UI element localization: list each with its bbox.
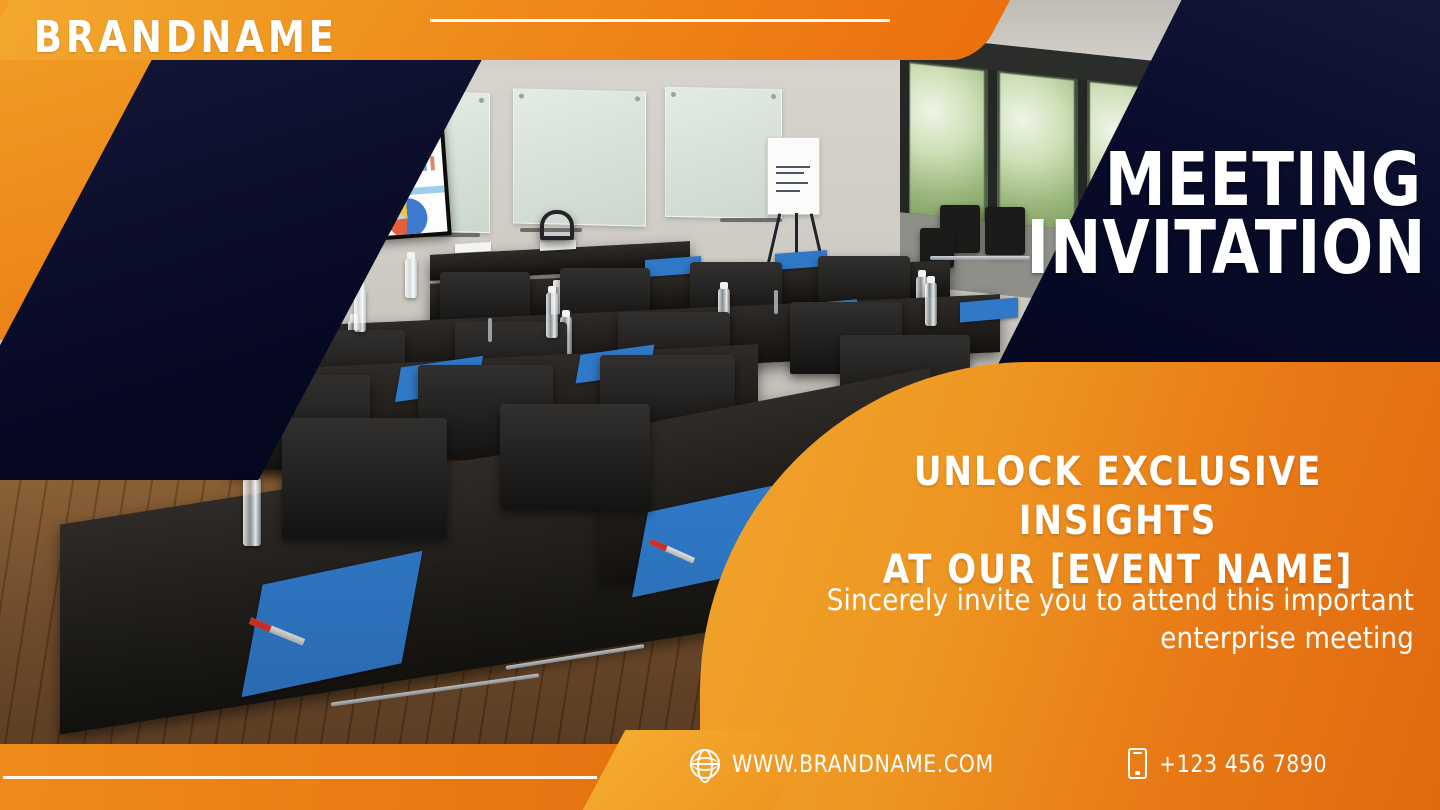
website-contact[interactable]: WWW.BRANDNAME.COM xyxy=(690,749,1008,779)
footer-contacts: WWW.BRANDNAME.COM +123 456 7890 xyxy=(690,748,1335,779)
website-label: WWW.BRANDNAME.COM xyxy=(732,750,994,778)
subtext-line-2: enterprise meeting xyxy=(794,620,1414,658)
footer-rule xyxy=(3,776,597,779)
headline: UNLOCK EXCLUSIVE INSIGHTS AT OUR [EVENT … xyxy=(833,448,1403,594)
phone-icon xyxy=(1128,748,1147,779)
brand-name: BRANDNAME xyxy=(34,12,338,63)
phone-contact[interactable]: +123 456 7890 xyxy=(1128,748,1336,779)
phone-label: +123 456 7890 xyxy=(1159,750,1327,778)
invitation-subtext: Sincerely invite you to attend this impo… xyxy=(794,582,1414,657)
subtext-line-1: Sincerely invite you to attend this impo… xyxy=(794,582,1414,620)
globe-icon xyxy=(690,749,720,779)
header-rule xyxy=(430,19,890,22)
meeting-invitation-poster: BRANDNAME MEETING INVITATION UNLOCK EXCL… xyxy=(0,0,1440,810)
page-title: MEETING INVITATION xyxy=(1026,146,1422,282)
title-line-1: MEETING xyxy=(1026,146,1422,214)
headline-line-1: UNLOCK EXCLUSIVE INSIGHTS xyxy=(833,448,1403,546)
title-line-2: INVITATION xyxy=(1026,214,1422,282)
